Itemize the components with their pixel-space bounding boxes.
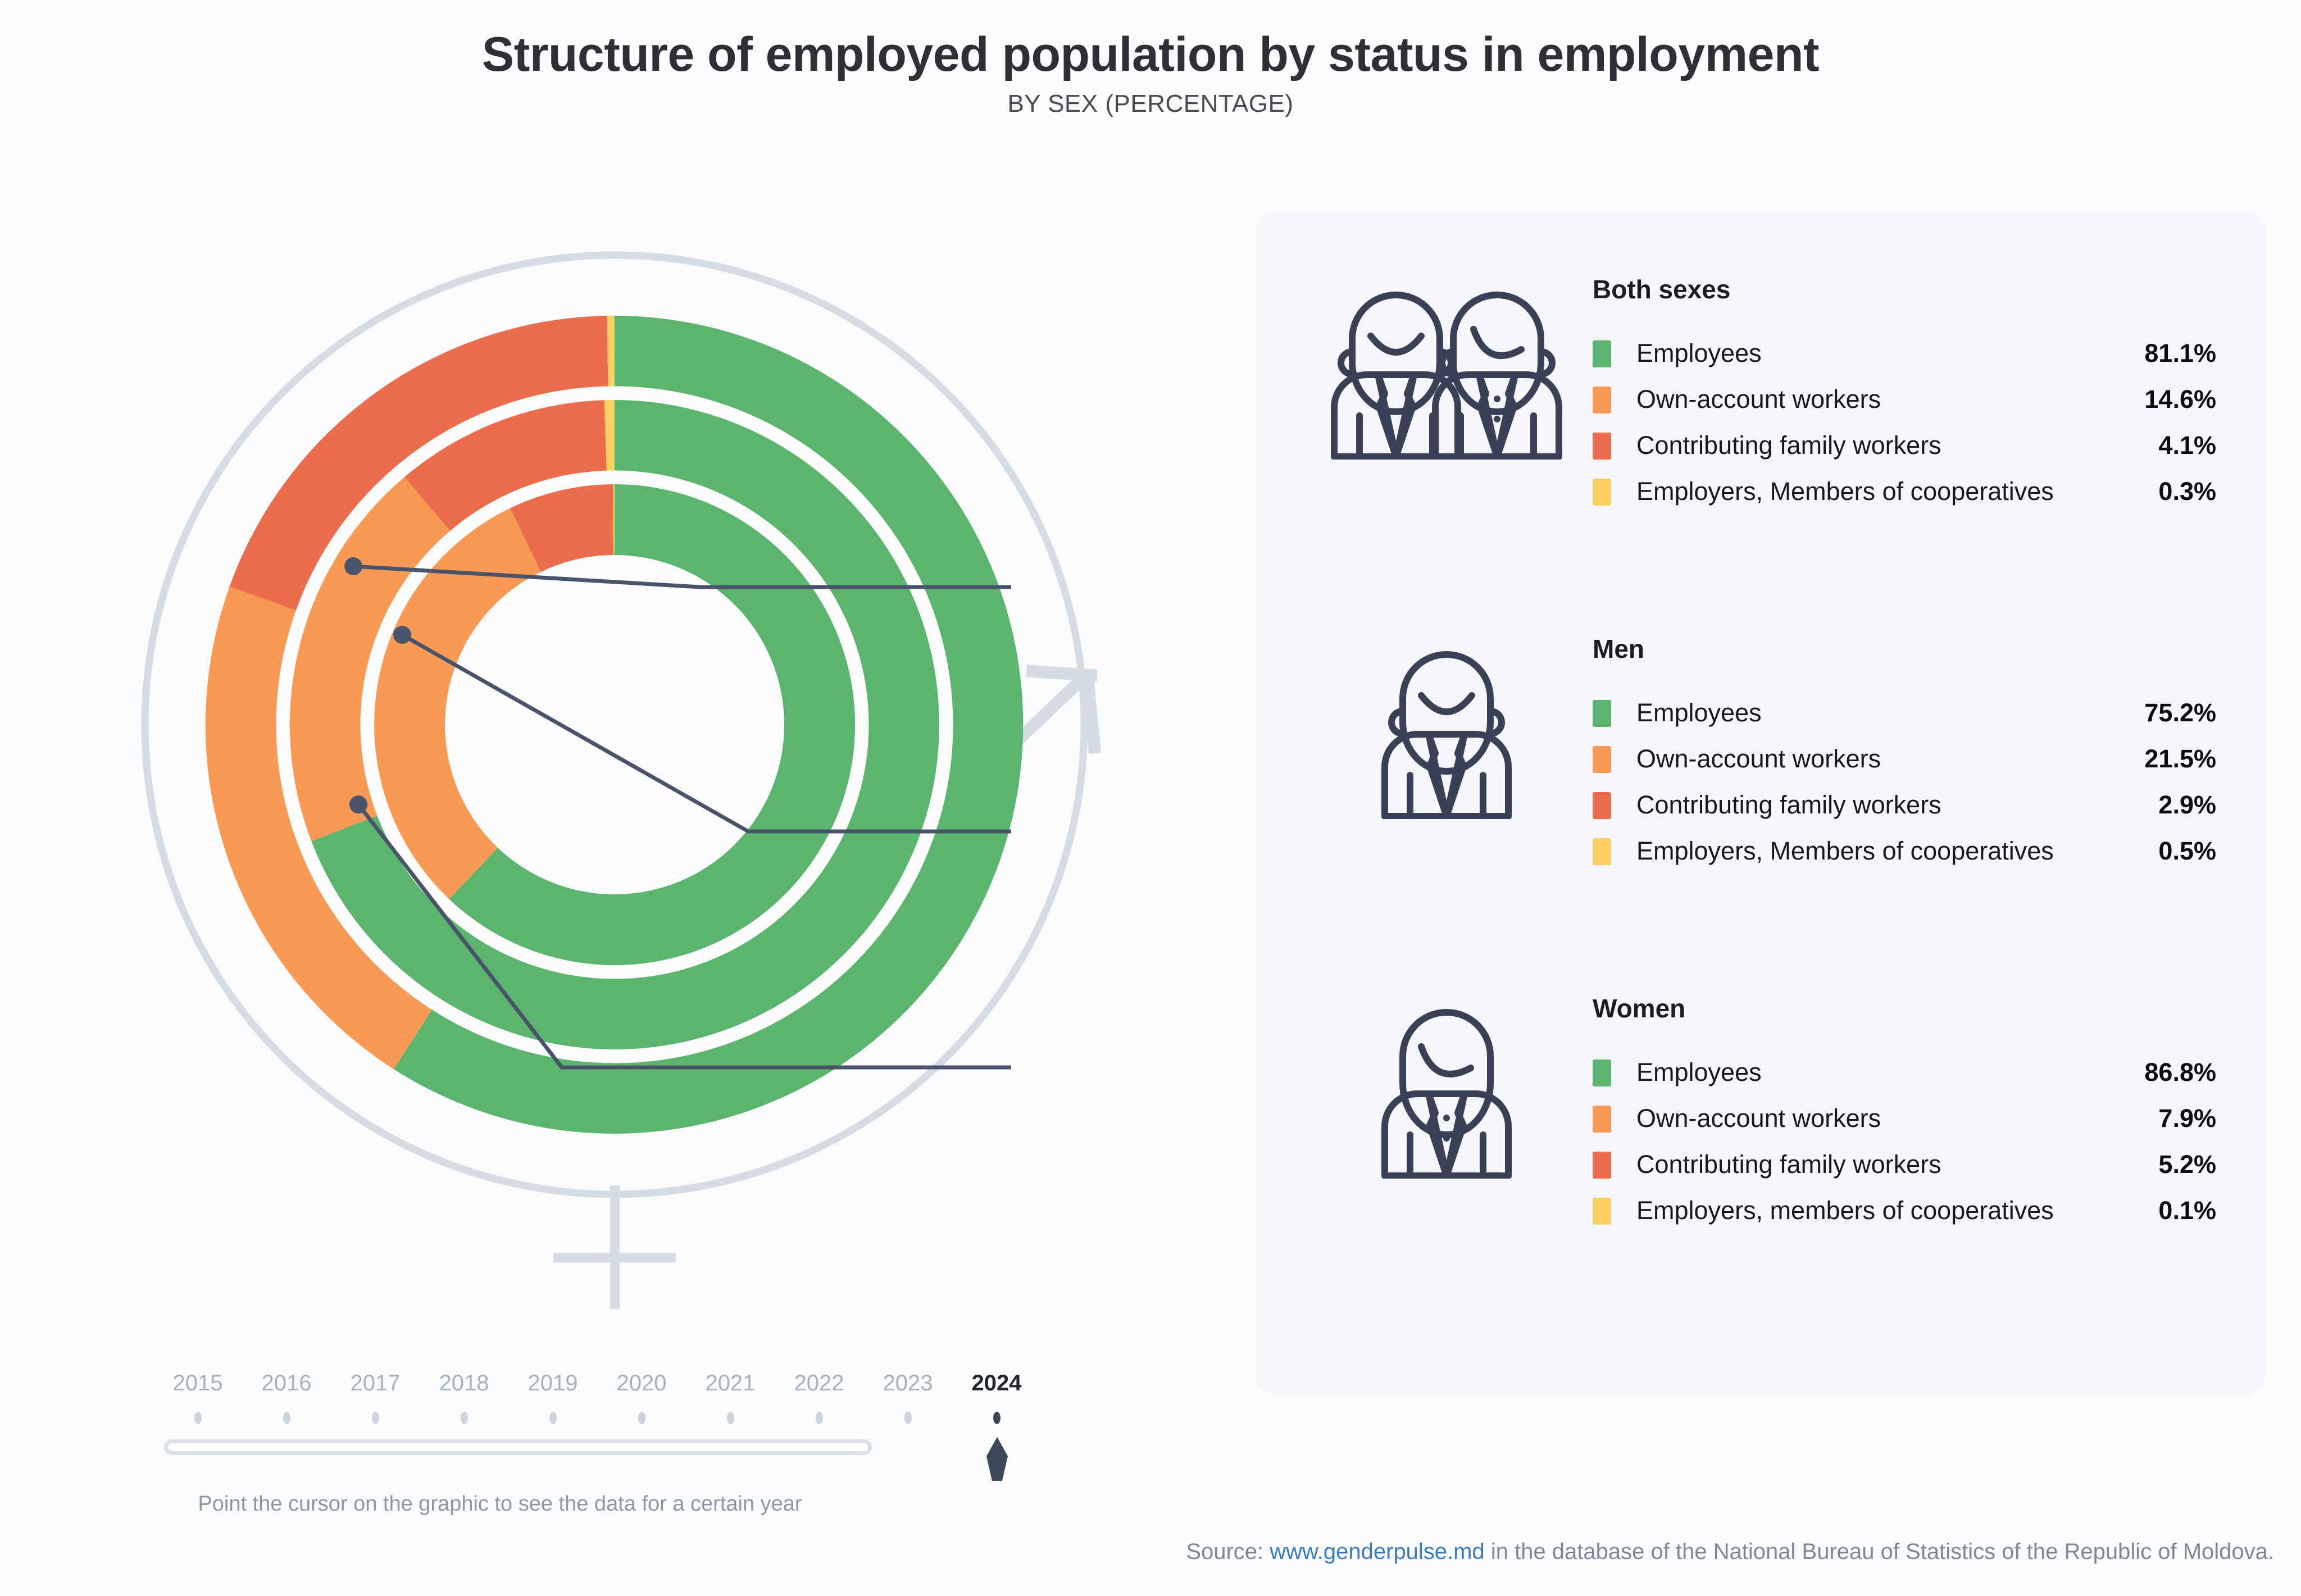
year-dot-2015[interactable] <box>194 1412 202 1424</box>
donut-chart-area <box>0 185 1236 1309</box>
slider-pointer-icon[interactable] <box>986 1437 1008 1481</box>
year-dot-2020[interactable] <box>638 1412 645 1424</box>
legend-row[interactable]: Contributing family workers 2.9% <box>1593 788 2211 824</box>
donut-rings <box>206 316 1024 1134</box>
woman-icon <box>1365 993 1528 1181</box>
year-label-2024[interactable]: 2024 <box>952 1371 1042 1396</box>
source-suffix: in the database of the National Bureau o… <box>1485 1539 2274 1564</box>
leader-dot-women <box>349 795 367 813</box>
legend-row[interactable]: Employers, members of cooperatives 0.1% <box>1593 1193 2211 1229</box>
venus-circle-icon <box>145 255 1084 1194</box>
timeline-hint: Point the cursor on the graphic to see t… <box>0 1492 1000 1516</box>
legend-group-title: Women <box>1593 993 1685 1024</box>
year-label-2018[interactable]: 2018 <box>419 1371 509 1396</box>
year-label-2020[interactable]: 2020 <box>597 1371 686 1396</box>
year-dot-2017[interactable] <box>372 1412 379 1424</box>
year-label-2016[interactable]: 2016 <box>242 1371 331 1396</box>
legend-row[interactable]: Employers, Members of cooperatives 0.3% <box>1593 474 2211 510</box>
legend-group-title: Both sexes <box>1593 274 1730 304</box>
source-link[interactable]: www.genderpulse.md <box>1270 1539 1484 1564</box>
year-dot-2016[interactable] <box>283 1412 290 1424</box>
year-dot-2021[interactable] <box>727 1412 734 1424</box>
year-label-2015[interactable]: 2015 <box>153 1371 243 1396</box>
two-persons-icon <box>1317 274 1576 462</box>
venus-cross-horizontal-icon <box>553 1253 676 1262</box>
legend-value: 0.1% <box>1593 1193 2216 1228</box>
legend-value: 86.8% <box>1593 1055 2216 1090</box>
year-timeline[interactable]: 2015 2016 2017 2018 2019 2020 2021 2022 … <box>169 1371 1067 1483</box>
legend-row[interactable]: Own-account workers 7.9% <box>1593 1101 2211 1137</box>
legend-group-title: Men <box>1593 634 1644 664</box>
legend-row[interactable]: Employees 86.8% <box>1593 1055 2211 1091</box>
legend-value: 0.5% <box>1593 834 2216 869</box>
timeline-track[interactable] <box>164 1439 872 1455</box>
legend-row[interactable]: Contributing family workers 4.1% <box>1593 428 2211 464</box>
leader-dot-men <box>393 626 411 644</box>
year-label-2017[interactable]: 2017 <box>330 1371 420 1396</box>
year-label-2021[interactable]: 2021 <box>685 1371 775 1396</box>
year-dot-2022[interactable] <box>816 1412 823 1424</box>
ring-women[interactable] <box>374 484 855 965</box>
venus-cross-vertical-icon <box>610 1185 620 1309</box>
man-icon <box>1365 634 1528 822</box>
legend-value: 2.9% <box>1593 788 2216 822</box>
year-dot-2018[interactable] <box>461 1412 468 1424</box>
legend-value: 0.3% <box>1593 474 2216 509</box>
legend-value: 75.2% <box>1593 695 2216 730</box>
legend-value: 21.5% <box>1593 742 2216 776</box>
legend-value: 81.1% <box>1593 336 2216 371</box>
legend-row[interactable]: Employers, Members of cooperatives 0.5% <box>1593 834 2211 870</box>
leader-dot-both-sexes <box>344 557 362 575</box>
source-note: Source: www.genderpulse.md in the databa… <box>1186 1539 2274 1565</box>
year-label-2019[interactable]: 2019 <box>508 1371 598 1396</box>
legend-value: 5.2% <box>1593 1147 2216 1182</box>
year-label-2023[interactable]: 2023 <box>863 1371 953 1396</box>
legend-value: 14.6% <box>1593 382 2216 417</box>
year-dot-2023[interactable] <box>904 1412 912 1424</box>
page-subtitle: BY SEX (PERCENTAGE) <box>0 90 2301 118</box>
source-prefix: Source: <box>1186 1539 1270 1564</box>
legend-row[interactable]: Own-account workers 21.5% <box>1593 742 2211 777</box>
legend-row[interactable]: Own-account workers 14.6% <box>1593 382 2211 418</box>
donut-chart[interactable] <box>0 185 1236 1309</box>
year-dot-2019[interactable] <box>549 1412 557 1424</box>
legend-row[interactable]: Contributing family workers 5.2% <box>1593 1147 2211 1183</box>
year-label-2022[interactable]: 2022 <box>774 1371 864 1396</box>
arc-both-employers[interactable] <box>607 316 615 387</box>
infographic-root: Structure of employed population by stat… <box>0 0 2301 1596</box>
legend-value: 4.1% <box>1593 428 2216 463</box>
page-title: Structure of employed population by stat… <box>0 27 2301 83</box>
legend-row[interactable]: Employees 81.1% <box>1593 336 2211 372</box>
year-dot-2024[interactable] <box>993 1412 1001 1424</box>
timeline-slider-handle[interactable] <box>986 1437 1008 1484</box>
legend-row[interactable]: Employees 75.2% <box>1593 695 2211 731</box>
legend-value: 7.9% <box>1593 1101 2216 1136</box>
legend-panel: Both sexes Employees 81.1% Own-account w… <box>1256 212 2266 1394</box>
